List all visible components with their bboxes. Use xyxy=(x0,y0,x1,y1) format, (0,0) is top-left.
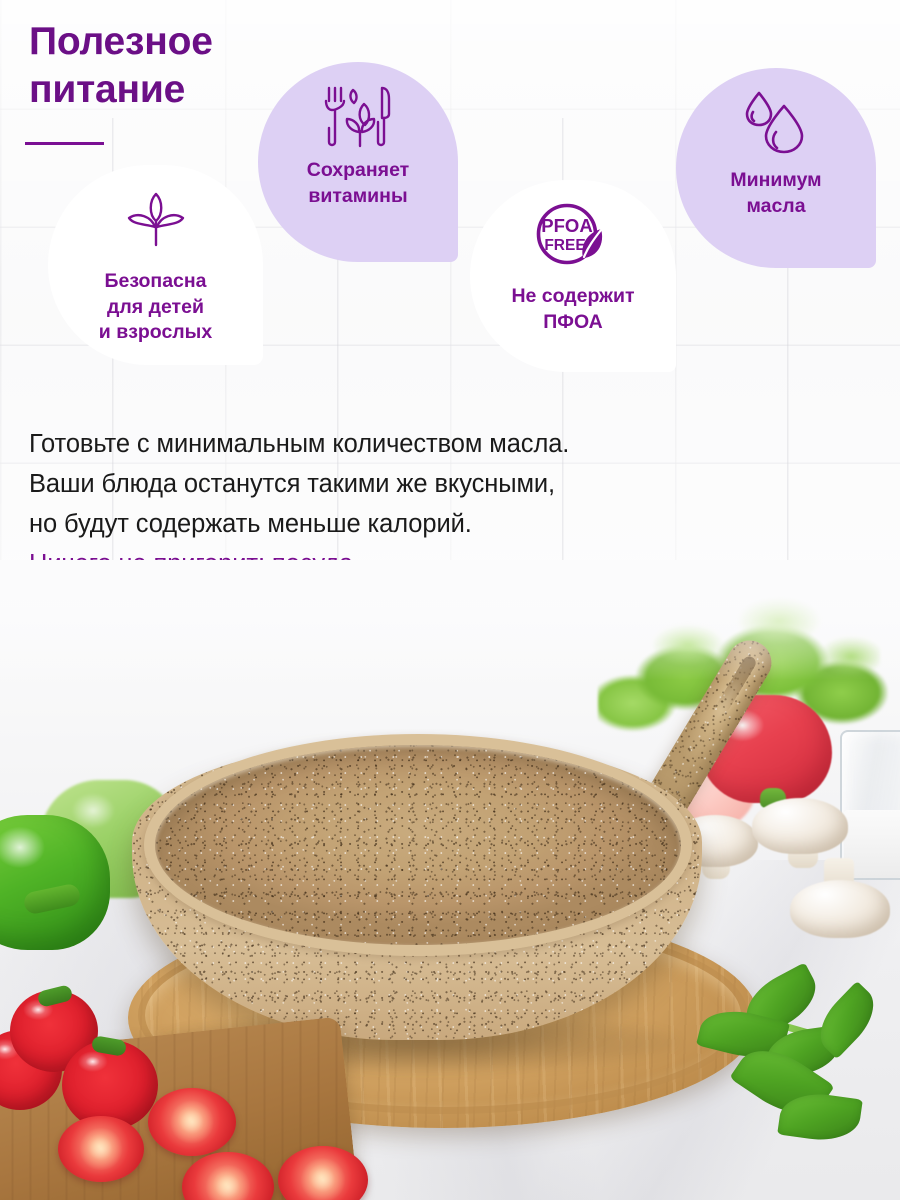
feature-label: Сохраняет витамины xyxy=(307,158,409,209)
oil-droplets-icon xyxy=(738,90,814,158)
sprout-leaf-icon xyxy=(119,191,193,253)
fork-knife-leaf-icon xyxy=(320,84,396,148)
feature-badge-pfoa-free[interactable]: PFOA FREE Не содержит ПФОА xyxy=(470,180,676,372)
photo-top-fade xyxy=(0,560,900,680)
title-underline-rule xyxy=(25,142,104,145)
pan-rim xyxy=(144,734,692,956)
svg-text:FREE: FREE xyxy=(544,237,585,254)
product-infographic-page: Полезное питание Безопасна для детей и в… xyxy=(0,0,900,1200)
feature-badge-minimum-oil[interactable]: Минимум масла xyxy=(676,68,876,268)
tomato-slice-icon xyxy=(148,1088,236,1156)
feature-label: Безопасна для детей и взрослых xyxy=(99,269,212,346)
feature-badge-safe-for-children[interactable]: Безопасна для детей и взрослых xyxy=(48,165,263,365)
feature-badge-preserves-vitamins[interactable]: Сохраняет витамины xyxy=(258,62,458,262)
pfoa-free-icon: PFOA FREE xyxy=(531,202,615,266)
page-title: Полезное питание xyxy=(29,18,213,113)
body-copy-dark: Готовьте с минимальным количеством масла… xyxy=(29,424,689,544)
tomato-slice-icon xyxy=(58,1116,144,1182)
feature-label: Не содержит ПФОА xyxy=(511,284,634,335)
product-photo xyxy=(0,560,900,1200)
feature-label: Минимум масла xyxy=(730,168,821,219)
svg-text:PFOA: PFOA xyxy=(541,215,592,236)
